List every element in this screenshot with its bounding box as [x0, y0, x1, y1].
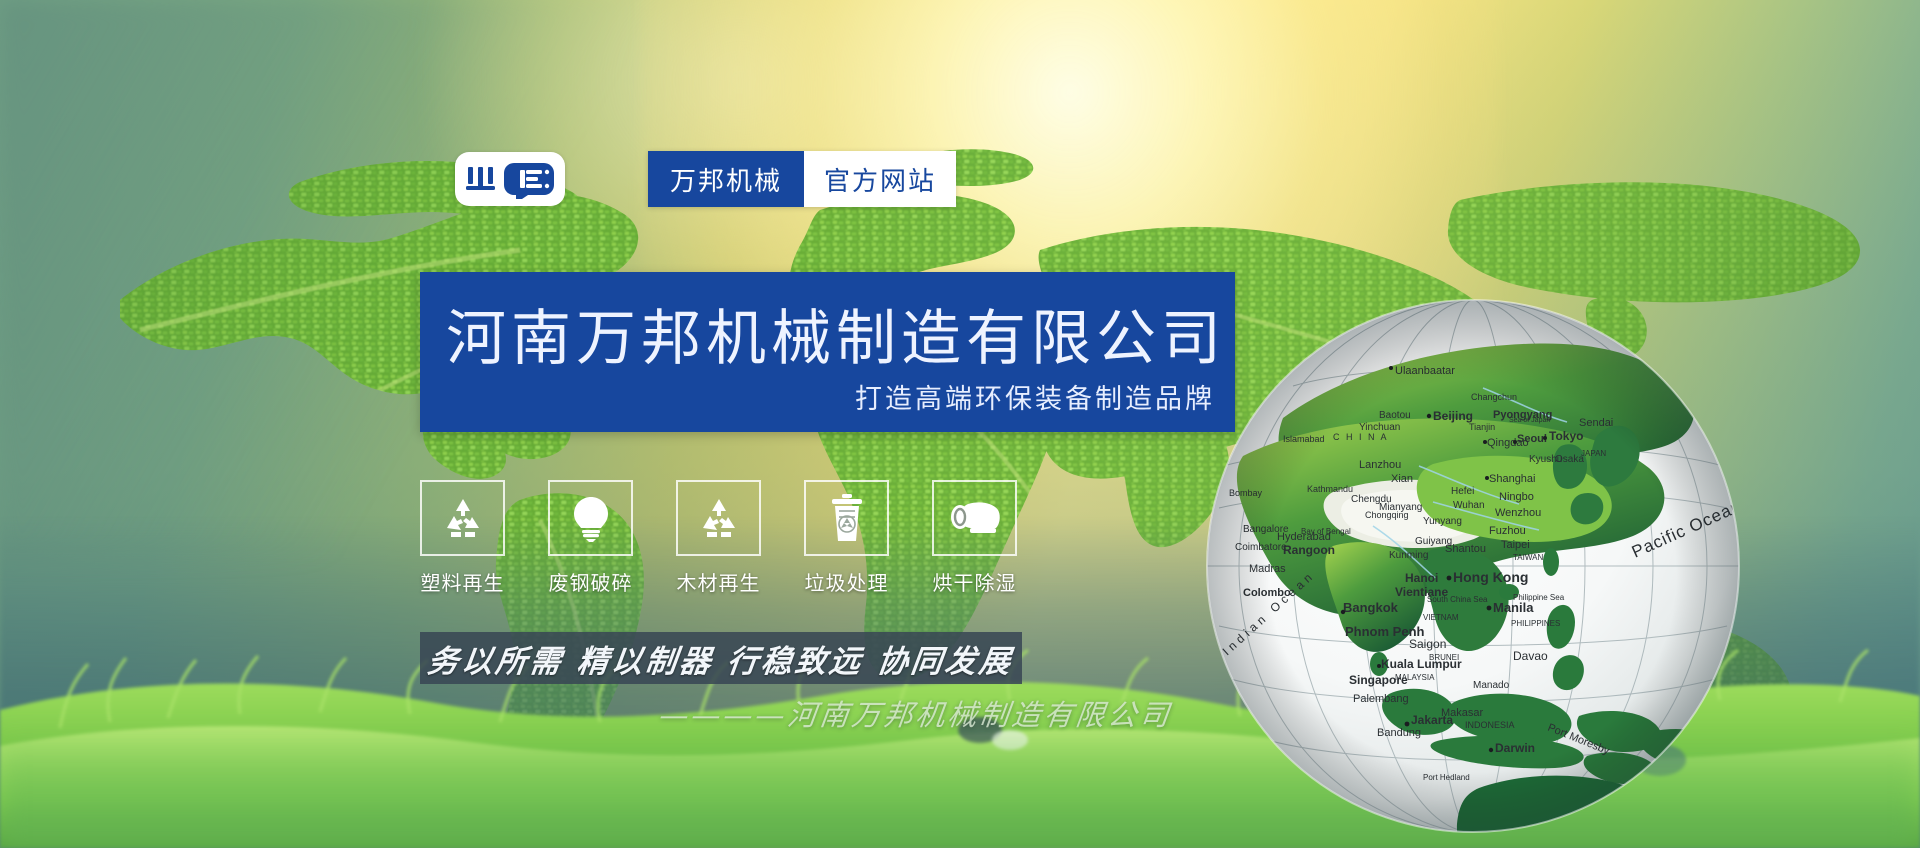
feature-item-wood-recycling[interactable]: 木材再生	[676, 480, 761, 596]
feature-label: 垃圾处理	[805, 567, 889, 596]
feature-item-drying-dehumidifying[interactable]: 烘干除湿	[932, 480, 1017, 596]
slogan-text: 务以所需 精以制器 行稳致远 协同发展	[426, 636, 1017, 681]
feature-icon-box[interactable]	[676, 480, 761, 556]
feature-icon-box[interactable]	[548, 480, 633, 556]
dryer-machine-icon	[948, 498, 1002, 538]
slogan-credit: ————河南万邦机械制造有限公司	[657, 692, 1174, 734]
feature-icon-row: 塑料再生 废钢破碎	[420, 480, 1017, 596]
feature-label: 废钢破碎	[549, 567, 633, 596]
hero-title-banner: 河南万邦机械制造有限公司 打造高端环保装备制造品牌	[420, 272, 1235, 432]
slogan-banner: 务以所需 精以制器 行稳致远 协同发展	[420, 632, 1022, 684]
nav-tabs[interactable]: 万邦机械 官方网站	[648, 151, 956, 207]
trash-bin-recycle-icon	[827, 493, 867, 543]
tab-official-site[interactable]: 官方网站	[804, 151, 956, 207]
feature-label: 木材再生	[677, 567, 761, 596]
feature-item-plastic-recycling[interactable]: 塑料再生	[420, 480, 505, 596]
page-title: 河南万邦机械制造有限公司	[446, 290, 1226, 377]
hero-banner: Ulaanbaatar Beijing Changchun Baotou Yin…	[0, 0, 1920, 848]
feature-item-scrap-steel-crushing[interactable]: 废钢破碎	[548, 480, 633, 596]
page-subtitle: 打造高端环保装备制造品牌	[855, 377, 1215, 416]
lightbulb-icon	[568, 494, 614, 542]
tab-wanbang-jixie[interactable]: 万邦机械	[648, 151, 804, 207]
wanbang-wb-logo-icon	[462, 159, 558, 199]
feature-icon-box[interactable]	[932, 480, 1017, 556]
recycle-icon	[695, 494, 743, 542]
logo[interactable]	[455, 152, 565, 206]
feature-label: 烘干除湿	[933, 567, 1017, 596]
recycle-icon	[439, 494, 487, 542]
feature-icon-box[interactable]	[420, 480, 505, 556]
globe-graphic: Ulaanbaatar Beijing Changchun Baotou Yin…	[1183, 296, 1763, 848]
feature-label: 塑料再生	[421, 567, 505, 596]
feature-item-waste-treatment[interactable]: 垃圾处理	[804, 480, 889, 596]
feature-icon-box[interactable]	[804, 480, 889, 556]
